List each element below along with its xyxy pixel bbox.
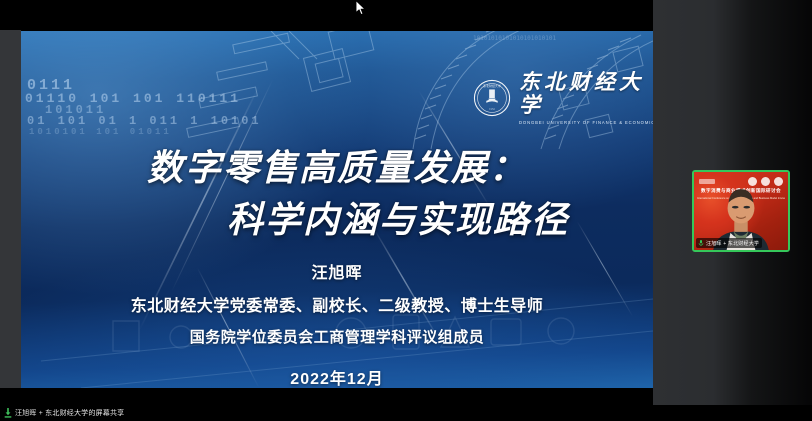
slide-affiliation-1: 东北财经大学党委常委、副校长、二级教授、博士生导师 [21,292,653,316]
mouse-pointer-icon [355,0,366,16]
slide-author: 汪旭晖 [21,259,653,283]
letterbox-top [21,0,653,31]
slide-affiliation-2: 国务院学位委员会工商管理学科评议组成员 [21,326,653,347]
shared-screen-slide[interactable]: 10101010101010101010101 0111 01110 101 1… [21,31,653,388]
slide-date: 2022年12月 [21,365,653,388]
screen-share-status-bar: 汪旭晖 + 东北财经大学的屏幕共享 [0,405,812,421]
left-gutter [0,30,21,405]
slide-title-line-1: 数字零售高质量发展： [147,139,527,191]
slide-title-line-2: 科学内涵与实现路径 [227,191,569,243]
participant-name-text: 汪旭晖 + 东北财经大学 [706,240,759,247]
microphone-icon [698,239,704,247]
letterbox-bottom [0,388,653,405]
participant-name-badge: 汪旭晖 + 东北财经大学 [696,238,762,248]
slide-text-content: 数字零售高质量发展： 科学内涵与实现路径 汪旭晖 东北财经大学党委常委、副校长、… [21,31,653,388]
meeting-window: 10101010101010101010101 0111 01110 101 1… [0,0,812,421]
screen-share-icon [4,408,12,418]
screen-share-label: 汪旭晖 + 东北财经大学的屏幕共享 [15,408,124,418]
participant-video-tile[interactable]: 数字消费与商业模式创新国际研讨会 International Conferenc… [692,170,790,252]
